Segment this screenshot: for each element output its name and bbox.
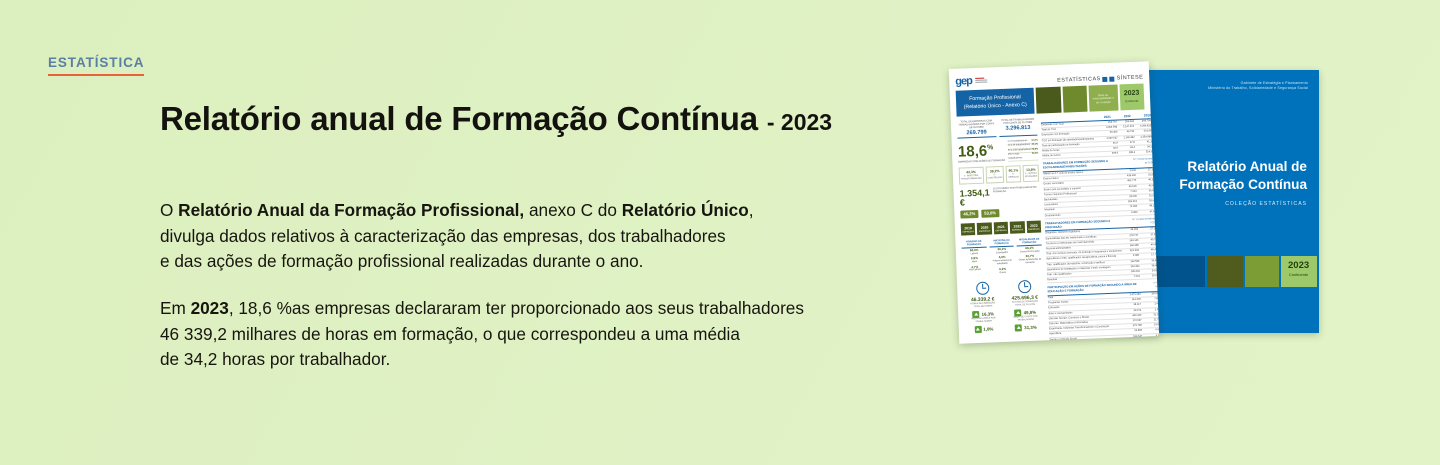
sheet-series-label: ESTATÍSTICAS <box>1057 76 1101 84</box>
table-cell: 46.791 <box>1117 130 1134 135</box>
section2-units: N.º | % face ao total de TCO <box>1130 159 1152 167</box>
sector-quartile-pct: 13,8% <box>1025 168 1037 172</box>
gep-logo-mark-icon <box>975 78 987 84</box>
table-cell: 3.296.813 <box>1134 124 1151 129</box>
cover-title-line2: Formação Contínua <box>1150 176 1307 194</box>
sector-quartile-text: 9 · OUTRAS ATIVIDADES <box>1025 173 1037 179</box>
sheet-band-year-value: 2023 <box>1119 89 1144 97</box>
distribution-value: 4,7% <box>962 265 987 269</box>
table-cell: 50.196 <box>1134 130 1151 135</box>
section3-units: N.º | % face ao total de TCO <box>1127 218 1155 227</box>
kicker-label: ESTATÍSTICA <box>48 56 144 76</box>
sheet-band-olive-1 <box>1036 87 1061 114</box>
distribution-row: 5,9%Misto <box>962 257 987 265</box>
main-table-year: 2021 <box>1094 115 1111 120</box>
table-cell: 134.847 <box>1125 334 1142 339</box>
sector-quartile-text: 5 · CONSTRUÇÃO <box>987 174 1002 180</box>
table-cell: 37,8 <box>1118 141 1135 146</box>
table-cell: 36,6 <box>1137 189 1154 194</box>
table-cell: 13.883 <box>1125 329 1142 334</box>
page-title-year: - 2023 <box>767 109 832 135</box>
year-block: 2021EMPRESAS <box>994 221 1009 234</box>
summary-arrow-row-2: 31,3% <box>1007 323 1045 331</box>
distribution-row: 69,1%Cursos de formação <box>1017 247 1042 255</box>
sector-quartile: 90,1% 6 · SERVIÇOS <box>1006 165 1021 182</box>
section3-rows: Dirigentes, diretores e gestores 42.1822… <box>1045 228 1157 284</box>
sheet-series-label2: SÍNTESE <box>1117 74 1144 81</box>
table-cell: 1.471.463 <box>1124 293 1141 298</box>
cost-block: 1.354,1 € CUSTO MÉDIO POR TRABALHADOR EM… <box>959 186 1040 207</box>
table-cell: 72.090 <box>1120 205 1137 210</box>
table-cell: 40,2 <box>1136 179 1153 184</box>
table-cell: 288,4 <box>1118 151 1135 156</box>
sheet-band: Formação Profissional (Relatório Único -… <box>956 83 1145 116</box>
year-block-label: EMPRESAS <box>977 230 992 233</box>
table-cell: 90.128 <box>1119 184 1136 189</box>
table-cell: 38.117 <box>1124 303 1141 308</box>
summary-arrow-value: 49,8% <box>1024 310 1037 315</box>
summary-arrow-row-2: 1,8% <box>965 325 1003 333</box>
table-cell: 32,6 <box>1101 147 1118 152</box>
headline-percent-sign: % <box>987 144 993 151</box>
table-cell: 6.089 <box>1120 210 1137 215</box>
table-row-label: Média de custos <box>1042 152 1101 158</box>
sheet-body: TOTAL DE EMPRESAS COM TRABALHADORES POR … <box>957 113 1154 343</box>
sector-quartile-text: 3 · INDÚSTRIA TRANSFORMADORA <box>961 175 982 181</box>
table-row-label: Serviços <box>1050 340 1126 343</box>
table-cell: 33,4 <box>1118 146 1135 151</box>
summary-arrow-value-2: 31,3% <box>1024 325 1037 330</box>
sheet-band-note: Rede de empregabilidade e de ocupação <box>1089 84 1118 111</box>
cover-collection: COLEÇÃO ESTATÍSTICAS <box>1225 201 1307 207</box>
cover-title: Relatório Anual de Formação Contínua <box>1150 158 1307 194</box>
main-table-rows: Empresas com TCO 264.767263.684269.799 T… <box>1041 119 1152 160</box>
stats-paragraph: Em 2023, 18,6 %as empresas declararam te… <box>160 296 804 373</box>
distribution-header: MODALIDADE DE FORMAÇÃO <box>1017 237 1042 246</box>
table-cell: 0,9 <box>1142 329 1159 334</box>
table-cell: 14,6 <box>1142 339 1159 344</box>
intro-paragraph: O Relatório Anual da Formação Profission… <box>160 198 753 275</box>
table-cell: 3.069.598 <box>1100 126 1117 131</box>
table-cell: 19,0 <box>1142 323 1159 328</box>
table-cell: 279.788 <box>1125 324 1142 329</box>
year-block-label: EMPRESAS <box>1010 229 1025 232</box>
table-cell: 11,7 <box>1142 318 1159 323</box>
banner-background: ESTATÍSTICA Relatório anual de Formação … <box>0 0 1440 465</box>
cover-publisher-line2: Ministério do Trabalho, Solidariedade e … <box>1208 86 1308 91</box>
distribution-row: 4,7%Pós-Laboral <box>962 265 987 273</box>
distribution-row: 5,2%Outros <box>990 268 1015 276</box>
year-block: 2020EMPRESAS <box>977 222 992 235</box>
table-cell: 214.742 <box>1125 340 1142 344</box>
distribution-header: INICIATIVA DA FORMAÇÃO <box>989 238 1014 247</box>
company-size-row: 250 e mais trabalhadores93,4% <box>1008 153 1039 162</box>
distribution-column: HORÁRIO DE FORMAÇÃO 84,5%Laboral5,9%Mist… <box>961 239 987 276</box>
table-cell: 40,4 <box>1139 243 1156 248</box>
cost-badge: 53,8% <box>981 209 999 218</box>
table-cell: 41,1 <box>1135 140 1152 145</box>
sheet-band-title: Formação Profissional (Relatório Único -… <box>956 88 1035 117</box>
company-size-label: 250 e mais trabalhadores <box>1008 153 1032 161</box>
sector-quartile-group: 43,3% 3 · INDÚSTRIA TRANSFORMADORA 38,2%… <box>959 165 1040 184</box>
sheet-band-year: 2023 Continente <box>1119 83 1144 110</box>
table-cell: 160.385 <box>1122 244 1139 249</box>
table-cell: 112.588 <box>1122 259 1139 264</box>
cover-bar-year-value: 2023 <box>1281 261 1317 271</box>
series-square2-icon <box>1110 76 1115 81</box>
arrow-up-icon <box>974 326 981 333</box>
summary-circle: 46.339,2 € HORAS DE FORMAÇÃO TOTAL DE HO… <box>963 281 1003 333</box>
euro-icon <box>1018 280 1031 293</box>
table-cell: 48,1 <box>1137 205 1154 210</box>
main-table-year: 2023 <box>1134 113 1151 118</box>
company-size-rows: 1 a 9 trabalhadores10,3%10 a 49 trabalha… <box>1007 140 1038 162</box>
table-cell: 1.354.086 <box>1135 135 1152 140</box>
sector-quartile-pct: 43,3% <box>961 170 982 175</box>
distribution-column: MODALIDADE DE FORMAÇÃO 69,1%Cursos de fo… <box>1017 237 1043 274</box>
kpi-box: TOTAL DE EMPRESAS COM TRABALHADORES POR … <box>957 119 996 138</box>
sector-quartile-text: 6 · SERVIÇOS <box>1008 174 1019 180</box>
clock-icon <box>976 282 989 295</box>
year-block: 2019EMPRESAS <box>961 223 976 236</box>
statistics-sheet[interactable]: gep ESTATÍSTICAS SÍNTESE Formação Profis… <box>949 61 1159 343</box>
table-cell: 278.737 <box>1121 233 1138 238</box>
distribution-group: HORÁRIO DE FORMAÇÃO 84,5%Laboral5,9%Mist… <box>961 237 1043 276</box>
distribution-value: 84,5% <box>962 249 987 253</box>
kpi-label: TOTAL DE EMPRESAS COM TRABALHADORES POR … <box>957 119 996 129</box>
publication-artwork: Gabinete de Estratégia e Planeamento Min… <box>930 0 1440 465</box>
headline-percent-number: 18,6 <box>958 143 988 161</box>
headline-percent: 18,6% EMPRESAS COM AÇÕES DE FORMAÇÃO <box>958 141 1006 164</box>
sheet-left-column: TOTAL DE EMPRESAS COM TRABALHADORES POR … <box>957 118 1046 344</box>
table-cell: 53,6 <box>1137 199 1154 204</box>
kicker-wrap: ESTATÍSTICA <box>48 54 144 76</box>
distribution-value: 5,9% <box>962 257 987 261</box>
table-cell: 5.080 <box>1122 254 1139 259</box>
distribution-value: 20,7% <box>1017 255 1042 259</box>
series-square-icon <box>1103 76 1108 81</box>
table-cell: 42.182 <box>1121 228 1138 233</box>
table-cell: 418.160 <box>1119 174 1136 179</box>
summary-arrow-value-2: 1,8% <box>983 326 993 331</box>
table-cell: 39.460 <box>1100 131 1117 136</box>
table-cell: 48,4 <box>1139 248 1156 253</box>
headline-percent-block: 18,6% EMPRESAS COM AÇÕES DE FORMAÇÃO 1 a… <box>958 140 1039 164</box>
company-size-value: 45,1% <box>1031 144 1038 148</box>
table-cell: 38,4 <box>1139 264 1156 269</box>
table-cell: 43,0 <box>1136 184 1153 189</box>
distribution-row: 4,0%Própria iniciativa do trabalhador <box>990 256 1015 267</box>
cost-caption: CUSTO MÉDIO POR TRABALHADOR EM FORMAÇÃO <box>993 186 1040 194</box>
kpi-value: 3.296.813 <box>999 125 1038 132</box>
table-cell: 51,9 <box>1137 194 1154 199</box>
cover-title-line1: Relatório Anual de <box>1150 158 1307 176</box>
table-cell: 31,8 <box>1136 173 1153 178</box>
table-cell: 104.494 <box>1122 265 1139 270</box>
table-cell: 460.340 <box>1124 314 1141 319</box>
table-cell: 7.013 <box>1120 190 1137 195</box>
table-cell: 145.333 <box>1123 270 1140 275</box>
table-cell: 31,3 <box>1141 313 1158 318</box>
table-cell: 37,8 <box>1138 233 1155 238</box>
table-cell: 17,7 <box>1139 254 1156 259</box>
table-cell: 7,8 <box>1141 297 1158 302</box>
arrow-up-icon <box>1015 324 1022 331</box>
kpi-box: TOTAL DE TRABALHADORES POR CONTA DE OUTR… <box>998 118 1037 137</box>
table-cell: 114.309 <box>1124 298 1141 303</box>
table-cell: 7.001 <box>1123 275 1140 280</box>
main-table-year: 2022 <box>1114 114 1131 119</box>
table-cell: 314,3 <box>1135 150 1152 155</box>
table-cell: 100,0 <box>1141 292 1158 297</box>
table-cell: 34,2 <box>1135 145 1152 150</box>
sheet-series: ESTATÍSTICAS SÍNTESE <box>1057 74 1143 83</box>
summary-circle: 425.696,3 € CUSTOS DE FORMAÇÃO TOTAL DE … <box>1005 279 1045 331</box>
distribution-value: 5,2% <box>990 268 1015 272</box>
distribution-column: INICIATIVA DA FORMAÇÃO 90,2%Empregador4,… <box>989 238 1015 275</box>
distribution-row: 90,2%Empregador <box>989 248 1014 256</box>
table-cell: 9,2 <box>1142 334 1159 339</box>
sector-quartile: 43,3% 3 · INDÚSTRIA TRANSFORMADORA <box>959 167 984 184</box>
sector-quartile-pct: 90,1% <box>1008 169 1019 173</box>
table-cell: 35,4 <box>1101 141 1118 146</box>
year-block-label: EMPRESAS <box>1027 228 1042 231</box>
headline-percent-value: 18,6% <box>958 141 1006 160</box>
section4-rows: Total 1.471.463100,0 Programas Gerais 11… <box>1048 292 1159 344</box>
kpi-group: TOTAL DE EMPRESAS COM TRABALHADORES POR … <box>957 118 1038 139</box>
table-cell: 263.684 <box>1117 120 1134 125</box>
table-cell: 40,7 <box>1138 238 1155 243</box>
table-cell: 1.190.482 <box>1118 135 1135 140</box>
summary-sub: TOTAL DE HORAS <box>964 305 1002 309</box>
kpi-value: 269.799 <box>957 129 996 136</box>
sheet-right-column: 202120222023 Empresas com TCO 264.767263… <box>1041 113 1159 344</box>
table-cell: 462.776 <box>1119 179 1136 184</box>
table-cell: 172.597 <box>1125 319 1142 324</box>
table-cell: 319.449 <box>1122 249 1139 254</box>
summary-circle-group: 46.339,2 € HORAS DE FORMAÇÃO TOTAL DE HO… <box>963 279 1045 333</box>
sheet-band-region: Continente <box>1120 98 1145 103</box>
gep-logo: gep <box>955 75 987 87</box>
arrow-up-icon <box>972 311 979 318</box>
sector-quartile: 13,8% 9 · OUTRAS ATIVIDADES <box>1023 165 1040 182</box>
table-cell: 20,0 <box>1140 274 1157 279</box>
cost-value: 1.354,1 € <box>959 188 990 207</box>
summary-sub2: MÉDIA DE HORAS POR TRABALHADOR <box>964 317 1002 324</box>
cover-bar-green <box>1245 256 1279 287</box>
table-cell: 2,0 <box>1141 308 1158 313</box>
sector-quartile: 38,2% 5 · CONSTRUÇÃO <box>985 166 1004 183</box>
table-row: Serviços 214.74214,6 <box>1050 339 1160 344</box>
table-cell: 29.374 <box>1124 308 1141 313</box>
sector-quartile-pct: 38,2% <box>987 169 1002 174</box>
main-table: 202120222023 Empresas com TCO 264.767263… <box>1041 113 1152 160</box>
summary-arrow-value: 16,3% <box>981 311 994 316</box>
table-cell: 33,4 <box>1139 259 1156 264</box>
distribution-value: 4,0% <box>990 256 1015 260</box>
company-size-value: 78,9% <box>1032 148 1039 152</box>
page-title: Relatório anual de Formação Contínua - 2… <box>160 100 832 138</box>
section4-units: n.º | % <box>1152 283 1158 291</box>
distribution-row: 20,7%Outras ações/ações de formação <box>1017 255 1042 266</box>
cover-bar-year: 2023 Continente <box>1281 256 1317 287</box>
distribution-value: 90,2% <box>989 248 1014 252</box>
table-cell: 309,6 <box>1101 152 1118 157</box>
summary-sub2: MÉDIA DE CUSTO POR TRABALHADOR <box>1006 315 1044 322</box>
sheet-band-title-line2: (Relatório Único - Anexo C) <box>959 101 1031 112</box>
year-block-label: EMPRESAS <box>994 229 1009 232</box>
table-cell: 27,3 <box>1138 228 1155 233</box>
distribution-value: 69,1% <box>1017 247 1042 251</box>
year-block: 2022EMPRESAS <box>1010 221 1025 234</box>
table-cell: 47,6 <box>1137 210 1154 215</box>
table-cell: 24,6 <box>1140 269 1157 274</box>
company-size-value: 93,4% <box>1032 153 1039 160</box>
table-cell: 27,1 <box>1136 168 1153 173</box>
year-block-label: EMPRESAS <box>961 231 976 234</box>
cost-badge-group: 46,2%53,8% <box>960 207 1040 218</box>
table-cell: 1.087.527 <box>1101 136 1118 141</box>
table-cell: 2,6 <box>1141 303 1158 308</box>
table-cell: 264.767 <box>1100 121 1117 126</box>
distribution-header: HORÁRIO DE FORMAÇÃO <box>961 239 986 248</box>
arrow-up-icon <box>1015 309 1022 316</box>
table-cell: 265.913 <box>1120 200 1137 205</box>
table-cell: 269.799 <box>1134 119 1151 124</box>
table-cell: 2.599 <box>1119 169 1136 174</box>
cover-publisher: Gabinete de Estratégia e Planeamento Min… <box>1208 81 1308 92</box>
cover-bar-olive <box>1207 256 1243 287</box>
table-cell: 29.506 <box>1120 195 1137 200</box>
page-title-main: Relatório anual de Formação Contínua <box>160 100 758 137</box>
cost-badge: 46,2% <box>960 210 978 219</box>
sheet-band-olive-2 <box>1062 86 1087 113</box>
year-block-group: 2019EMPRESAS2020EMPRESAS2021EMPRESAS2022… <box>961 220 1042 235</box>
distribution-row: 84,5%Laboral <box>962 249 987 257</box>
table-cell: 163.146 <box>1121 239 1138 244</box>
section2-rows: Inferior ao 1.º ciclo do ensino básico 2… <box>1043 168 1155 219</box>
gep-logo-text: gep <box>955 75 972 88</box>
table-cell: 3.147.871 <box>1117 125 1134 130</box>
year-block: 2023EMPRESAS <box>1026 220 1041 233</box>
cover-bar-region: Continente <box>1281 273 1317 277</box>
